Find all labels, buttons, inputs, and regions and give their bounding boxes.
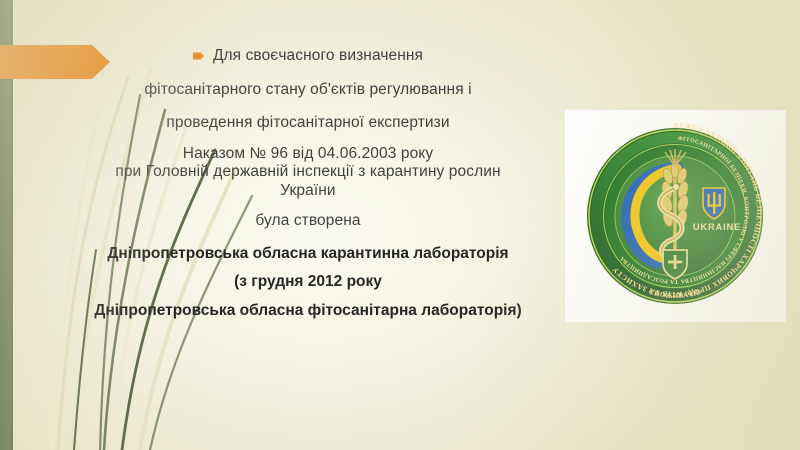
body-line-3: проведення фітосанітарної експертизи <box>58 115 558 131</box>
body-line-2: фітосанітарного стану об'єктів регулюван… <box>58 82 558 98</box>
emblem-picture-frame: ДЕРЖАВНА СЛУЖБА УКРАЇНИ З ПИТАНЬ БЕЗПЕЧН… <box>565 110 786 322</box>
emblem-country-label: UKRAINE <box>693 221 741 232</box>
body-line-4: Наказом № 96 від 04.06.2003 року <box>58 146 558 162</box>
body-line-1: Для своєчасного визначення <box>58 48 558 64</box>
body-line-5: при Головній державній інспекції з каран… <box>58 164 558 180</box>
body-line-7: була створена <box>58 213 558 229</box>
arrow-bullet-icon <box>193 51 204 61</box>
body-line-6: України <box>58 183 558 199</box>
body-line-1-text: Для своєчасного визначення <box>213 47 423 64</box>
presentation-slide: Для своєчасного визначення фітосанітарно… <box>0 0 800 450</box>
lab-name-current: Дніпропетровська обласна фітосанітарна л… <box>58 303 558 319</box>
slide-body-text: Для своєчасного визначення фітосанітарно… <box>58 48 558 318</box>
lab-name-original: Дніпропетровська обласна карантинна лабо… <box>58 246 558 262</box>
lab-rename-date: (з грудня 2012 року <box>58 274 558 290</box>
state-service-emblem-image: ДЕРЖАВНА СЛУЖБА УКРАЇНИ З ПИТАНЬ БЕЗПЕЧН… <box>565 110 786 322</box>
